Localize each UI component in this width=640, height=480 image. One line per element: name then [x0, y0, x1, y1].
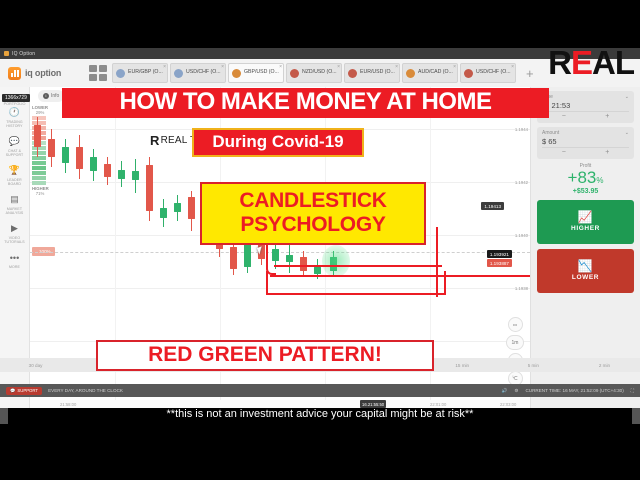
time-card-header: Time ⌄ — [542, 94, 629, 100]
amount-plus-button[interactable]: + — [605, 149, 609, 156]
sidebar-item-chat-support[interactable]: 💬 CHAT & SUPPORT — [0, 135, 30, 157]
candle — [174, 195, 181, 221]
candle — [62, 139, 69, 173]
sentiment-bar — [32, 161, 46, 165]
chart-up-icon: 📈 — [578, 211, 594, 223]
news-icon: ▤ — [8, 193, 21, 206]
info-button[interactable]: i Info — [38, 90, 64, 102]
app-topbar: iq option ×EUR/GBP (O... ×USD/CHF (O... … — [0, 59, 640, 88]
sentiment-bar — [32, 171, 46, 175]
sidebar-item-leader-board[interactable]: 🏆 LEADER BOARD — [0, 164, 30, 186]
profit-percent-unit: % — [596, 176, 603, 185]
amount-value: $ 65 — [542, 137, 629, 146]
current-price-label: 1.193921 — [487, 250, 512, 258]
current-time: CURRENT TIME: 16 MAY, 21:52:09 (UTC+4:30… — [525, 388, 623, 393]
candle — [104, 157, 111, 185]
candle — [118, 161, 125, 187]
real-logo: REAL — [548, 46, 634, 79]
time-minus-button[interactable]: − — [562, 113, 566, 120]
close-icon[interactable]: × — [395, 64, 398, 70]
amount-card-header: Amount ⌄ — [542, 130, 629, 136]
letterbox-top — [0, 0, 640, 48]
add-tab-button[interactable]: + — [518, 66, 542, 81]
sidebar-item-more[interactable]: ••• MORE — [0, 251, 30, 269]
profit-amount: +$53.95 — [537, 188, 634, 195]
support-label: SUPPORT — [17, 388, 38, 393]
time-tick: 22:03:00 — [500, 402, 516, 407]
apps-grid-icon[interactable] — [89, 65, 107, 81]
annotation-vline — [436, 227, 438, 297]
fullscreen-icon[interactable]: ⛶ — [631, 388, 634, 393]
sentiment-higher-value: 71% — [36, 191, 45, 196]
sidebar-item-label: LEADER BOARD — [1, 178, 29, 186]
flag-icon — [290, 69, 299, 78]
close-icon[interactable]: × — [511, 64, 514, 70]
timeframe-30day[interactable]: 30 day — [0, 363, 71, 368]
tab-label: AUD/CAD (O... — [418, 70, 453, 76]
candle — [160, 199, 167, 227]
sentiment-bar — [32, 181, 46, 185]
trophy-icon: 🏆 — [8, 164, 21, 177]
sidebar-item-trading-history[interactable]: 🕐 TRADING HISTORY — [0, 106, 30, 128]
higher-button-label: HIGHER — [571, 225, 600, 232]
topic-banner: CANDLESTICK PSYCHOLOGY — [200, 182, 426, 245]
tab-label: USD/CHF (O... — [186, 70, 221, 76]
headline-banner: HOW TO MAKE MONEY AT HOME — [62, 88, 549, 118]
sentiment-bar — [32, 166, 46, 170]
status-bar: 💬 SUPPORT EVERY DAY, AROUND THE CLOCK 🔊 … — [0, 384, 640, 397]
chevron-down-icon[interactable]: ⌄ — [625, 94, 629, 100]
window-title: IQ Option — [12, 51, 35, 57]
watermark-mark: R — [150, 133, 160, 148]
topic-line-1: CANDLESTICK — [202, 189, 424, 213]
sound-icon[interactable]: 🔊 — [502, 388, 508, 394]
profit-percent: +83% — [537, 169, 634, 187]
close-icon[interactable]: × — [163, 64, 166, 70]
app-icon — [4, 51, 9, 56]
play-icon: ▶ — [8, 222, 21, 235]
annotation-line — [274, 265, 442, 267]
sidebar-item-label: MARKET ANALYSIS — [1, 207, 29, 215]
sidebar-item-video-tutorials[interactable]: ▶ VIDEO TUTORIALS — [0, 222, 30, 244]
tab-usdchf-2[interactable]: ×USD/CHF (O... — [460, 63, 516, 83]
thumbnail-stage: IQ Option iq option ×EUR/GBP (O... ×USD/… — [0, 0, 640, 480]
tab-label: NZD/USD (O... — [302, 70, 337, 76]
timeframe-5min[interactable]: 5 min — [498, 363, 569, 368]
sentiment-lower-value: 29% — [36, 110, 45, 115]
chat-icon: 💬 — [8, 135, 21, 148]
tab-audcad[interactable]: ×AUD/CAD (O... — [402, 63, 458, 83]
logo-icon — [8, 67, 21, 80]
close-icon[interactable]: × — [453, 64, 456, 70]
time-tick: 22:01:00 — [430, 402, 446, 407]
price-tick: 1.1940 — [515, 233, 528, 238]
disclaimer-text: **this is not an investment advice your … — [0, 408, 640, 420]
price-marker-label: 1.19413 — [481, 202, 504, 210]
candle — [188, 191, 195, 231]
flag-icon — [464, 69, 473, 78]
candle — [90, 149, 97, 181]
amount-card[interactable]: Amount ⌄ $ 65 − + — [537, 127, 634, 159]
time-value: 21:53 — [551, 101, 570, 110]
timeframe-button[interactable]: 1m — [506, 335, 524, 350]
window-titlebar: IQ Option — [0, 48, 640, 59]
around-the-clock-text: EVERY DAY, AROUND THE CLOCK — [48, 388, 123, 393]
sidebar-item-label: TRADING HISTORY — [1, 120, 29, 128]
chart-down-icon: 📉 — [578, 260, 594, 272]
tab-eurgbp[interactable]: ×EUR/GBP (O... — [112, 63, 168, 83]
info-icon: i — [43, 93, 49, 99]
sidebar-item-market-analysis[interactable]: ▤ MARKET ANALYSIS — [0, 193, 30, 215]
sentiment-higher: HIGHER 71% — [32, 186, 48, 196]
tab-label: USD/CHF (O... — [476, 70, 511, 76]
chat-icon: 💬 — [10, 388, 15, 394]
flag-icon — [174, 69, 183, 78]
support-button[interactable]: 💬 SUPPORT — [6, 387, 42, 395]
tab-label: EUR/USD (O... — [360, 70, 395, 76]
chevron-down-icon[interactable]: ⌄ — [625, 130, 629, 136]
candle — [286, 243, 293, 273]
sidebar-item-label: VIDEO TUTORIALS — [1, 236, 29, 244]
topic-line-2: PSYCHOLOGY — [202, 213, 424, 237]
timeframe-15min[interactable]: 15 min — [427, 363, 498, 368]
time-plus-button[interactable]: + — [605, 113, 609, 120]
time-value-row: 🕐 21:53 — [542, 101, 629, 110]
info-label: Info — [51, 93, 59, 99]
profit-percent-value: +83 — [568, 168, 597, 187]
brand-label: iq option — [25, 68, 61, 78]
amount-steppers: − + — [542, 147, 629, 156]
annotation-long-line — [270, 275, 530, 277]
chart-tool-column: ⚏ 1m ✎ ᔍ — [506, 317, 524, 386]
higher-button[interactable]: 📈 HIGHER — [537, 200, 634, 244]
sentiment-lower: LOWER 29% — [32, 105, 48, 115]
sentiment-bar — [32, 176, 46, 180]
amount-minus-button[interactable]: − — [562, 149, 566, 156]
flag-icon — [348, 69, 357, 78]
tab-gbpusd[interactable]: ×GBP/USD (O... — [228, 63, 284, 83]
strike-line — [30, 252, 530, 253]
candle — [132, 159, 139, 193]
sidebar-item-label: MORE — [1, 265, 29, 269]
time-card[interactable]: Time ⌄ 🕐 21:53 − + — [537, 91, 634, 123]
tab-nzdusd[interactable]: ×NZD/USD (O... — [286, 63, 342, 83]
close-icon[interactable]: × — [221, 64, 224, 70]
flag-icon — [116, 69, 125, 78]
gear-icon[interactable]: ⚙ — [514, 388, 518, 394]
candle — [48, 129, 55, 167]
candle — [34, 117, 41, 157]
subhead-banner: During Covid-19 — [192, 128, 364, 157]
candle — [146, 157, 153, 221]
iq-option-logo: iq option — [0, 67, 84, 80]
status-bar-right: 🔊 ⚙ CURRENT TIME: 16 MAY, 21:52:09 (UTC+… — [502, 388, 634, 394]
tab-usdchf[interactable]: ×USD/CHF (O... — [170, 63, 226, 83]
amount-label: Amount — [542, 130, 559, 136]
time-axis[interactable]: 21:58:00 16.21:55:50 22:01:00 22:03:00 — [30, 400, 530, 408]
close-icon[interactable]: × — [337, 64, 340, 70]
time-axis-selected: 16.21:55:50 — [360, 400, 386, 408]
price-tick: 1.1944 — [515, 127, 528, 132]
lower-button-label: LOWER — [572, 274, 599, 281]
indicators-icon[interactable]: ⚏ — [508, 317, 523, 332]
price-tick: 1.1938 — [515, 286, 528, 291]
price-tick: 1.1942 — [515, 180, 528, 185]
time-tick: 21:58:00 — [60, 402, 76, 407]
timeframe-2min[interactable]: 2 min — [569, 363, 640, 368]
candle — [76, 135, 83, 179]
tab-label: GBP/USD (O... — [244, 70, 279, 76]
flag-icon — [406, 69, 415, 78]
ellipsis-icon: ••• — [8, 251, 21, 264]
flag-icon — [232, 69, 241, 78]
close-icon[interactable]: × — [279, 64, 282, 70]
lower-button[interactable]: 📉 LOWER — [537, 249, 634, 293]
callout-banner: RED GREEN PATTERN! — [96, 340, 434, 371]
tab-eurusd[interactable]: ×EUR/USD (O... — [344, 63, 400, 83]
time-steppers: − + — [542, 111, 629, 120]
strike-price-label: 1.193887 — [487, 259, 512, 267]
tab-label: EUR/GBP (O... — [128, 70, 163, 76]
clock-icon: 🕐 — [8, 106, 21, 119]
sidebar-item-label: CHAT & SUPPORT — [1, 149, 29, 157]
real-logo-accent: E — [571, 44, 592, 81]
close-icon[interactable]: × — [22, 93, 26, 100]
